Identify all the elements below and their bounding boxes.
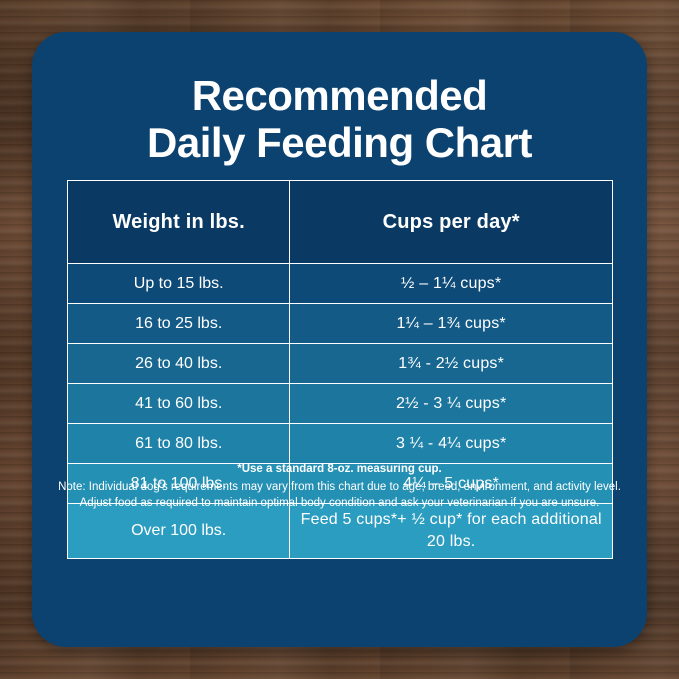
footnote-line-2: Note: Individual dog's requirements may … <box>32 479 647 496</box>
cell-weight: 16 to 25 lbs. <box>68 304 290 344</box>
cell-cups: 1¾ - 2½ cups* <box>290 344 613 384</box>
cell-weight: 26 to 40 lbs. <box>68 344 290 384</box>
cell-weight: 41 to 60 lbs. <box>68 384 290 424</box>
table-header-row: Weight in lbs. Cups per day* <box>68 181 613 264</box>
footnote-line-3: Adjust food as required to maintain opti… <box>32 495 647 512</box>
title-line-2: Daily Feeding Chart <box>32 119 647 166</box>
column-header-cups: Cups per day* <box>290 181 613 264</box>
cell-cups: 1¼ – 1¾ cups* <box>290 304 613 344</box>
table-row: 16 to 25 lbs. 1¼ – 1¾ cups* <box>68 304 613 344</box>
cell-cups: ½ – 1¼ cups* <box>290 264 613 304</box>
table-row: 26 to 40 lbs. 1¾ - 2½ cups* <box>68 344 613 384</box>
title-line-1: Recommended <box>192 72 488 119</box>
column-header-weight: Weight in lbs. <box>68 181 290 264</box>
feeding-chart-card: Recommended Daily Feeding Chart Weight i… <box>32 32 647 647</box>
table-row: Up to 15 lbs. ½ – 1¼ cups* <box>68 264 613 304</box>
cell-cups: 3 ¼ - 4¼ cups* <box>290 424 613 464</box>
cell-weight: Up to 15 lbs. <box>68 264 290 304</box>
table-row: 41 to 60 lbs. 2½ - 3 ¼ cups* <box>68 384 613 424</box>
table-row: 61 to 80 lbs. 3 ¼ - 4¼ cups* <box>68 424 613 464</box>
cell-cups: 2½ - 3 ¼ cups* <box>290 384 613 424</box>
cell-weight: 61 to 80 lbs. <box>68 424 290 464</box>
page-title: Recommended Daily Feeding Chart <box>32 72 647 167</box>
footnote-line-1: *Use a standard 8-oz. measuring cup. <box>32 461 647 478</box>
footnote: *Use a standard 8-oz. measuring cup. Not… <box>32 461 647 512</box>
